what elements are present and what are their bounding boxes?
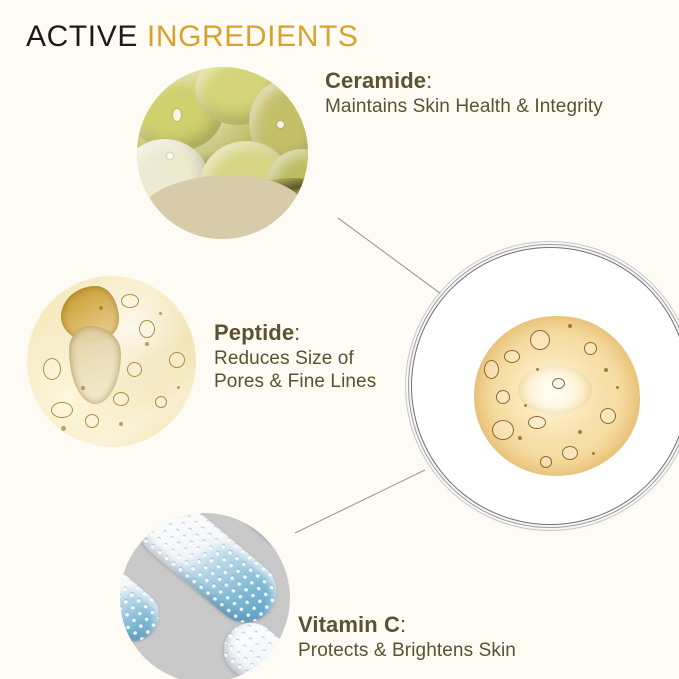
- ceramide-description-line-1: Maintains Skin Health & Integrity: [325, 95, 603, 118]
- callout-peptide: Peptide: Reduces Size of Pores & Fine Li…: [214, 320, 376, 393]
- title-word-active: ACTIVE: [26, 20, 138, 53]
- connector-ceramide-to-dish: [338, 218, 452, 302]
- vitamin-c-swatch-image: [120, 513, 290, 679]
- golden-serum-droplet: [474, 316, 640, 476]
- title-word-ingredients: INGREDIENTS: [147, 20, 359, 53]
- page-title: ACTIVE INGREDIENTS: [26, 22, 359, 52]
- infographic-canvas: ACTIVE INGREDIENTS Ceramide: Maintains S…: [0, 0, 679, 679]
- peptide-swatch-image: [27, 276, 196, 447]
- vitamin-c-name: Vitamin C:: [298, 612, 516, 639]
- ceramide-name: Ceramide:: [325, 68, 603, 95]
- peptide-name: Peptide:: [214, 320, 376, 347]
- peptide-description-line-1: Reduces Size of: [214, 347, 376, 370]
- ceramide-swatch-image: [137, 67, 308, 239]
- droplet-highlight: [518, 366, 592, 414]
- peptide-description-line-2: Pores & Fine Lines: [214, 370, 376, 393]
- vitamin-c-description-line-1: Protects & Brightens Skin: [298, 639, 516, 662]
- connector-vitaminc-to-dish: [295, 470, 425, 533]
- petri-dish: [412, 248, 679, 524]
- callout-vitamin-c: Vitamin C: Protects & Brightens Skin: [298, 612, 516, 662]
- callout-ceramide: Ceramide: Maintains Skin Health & Integr…: [325, 68, 603, 118]
